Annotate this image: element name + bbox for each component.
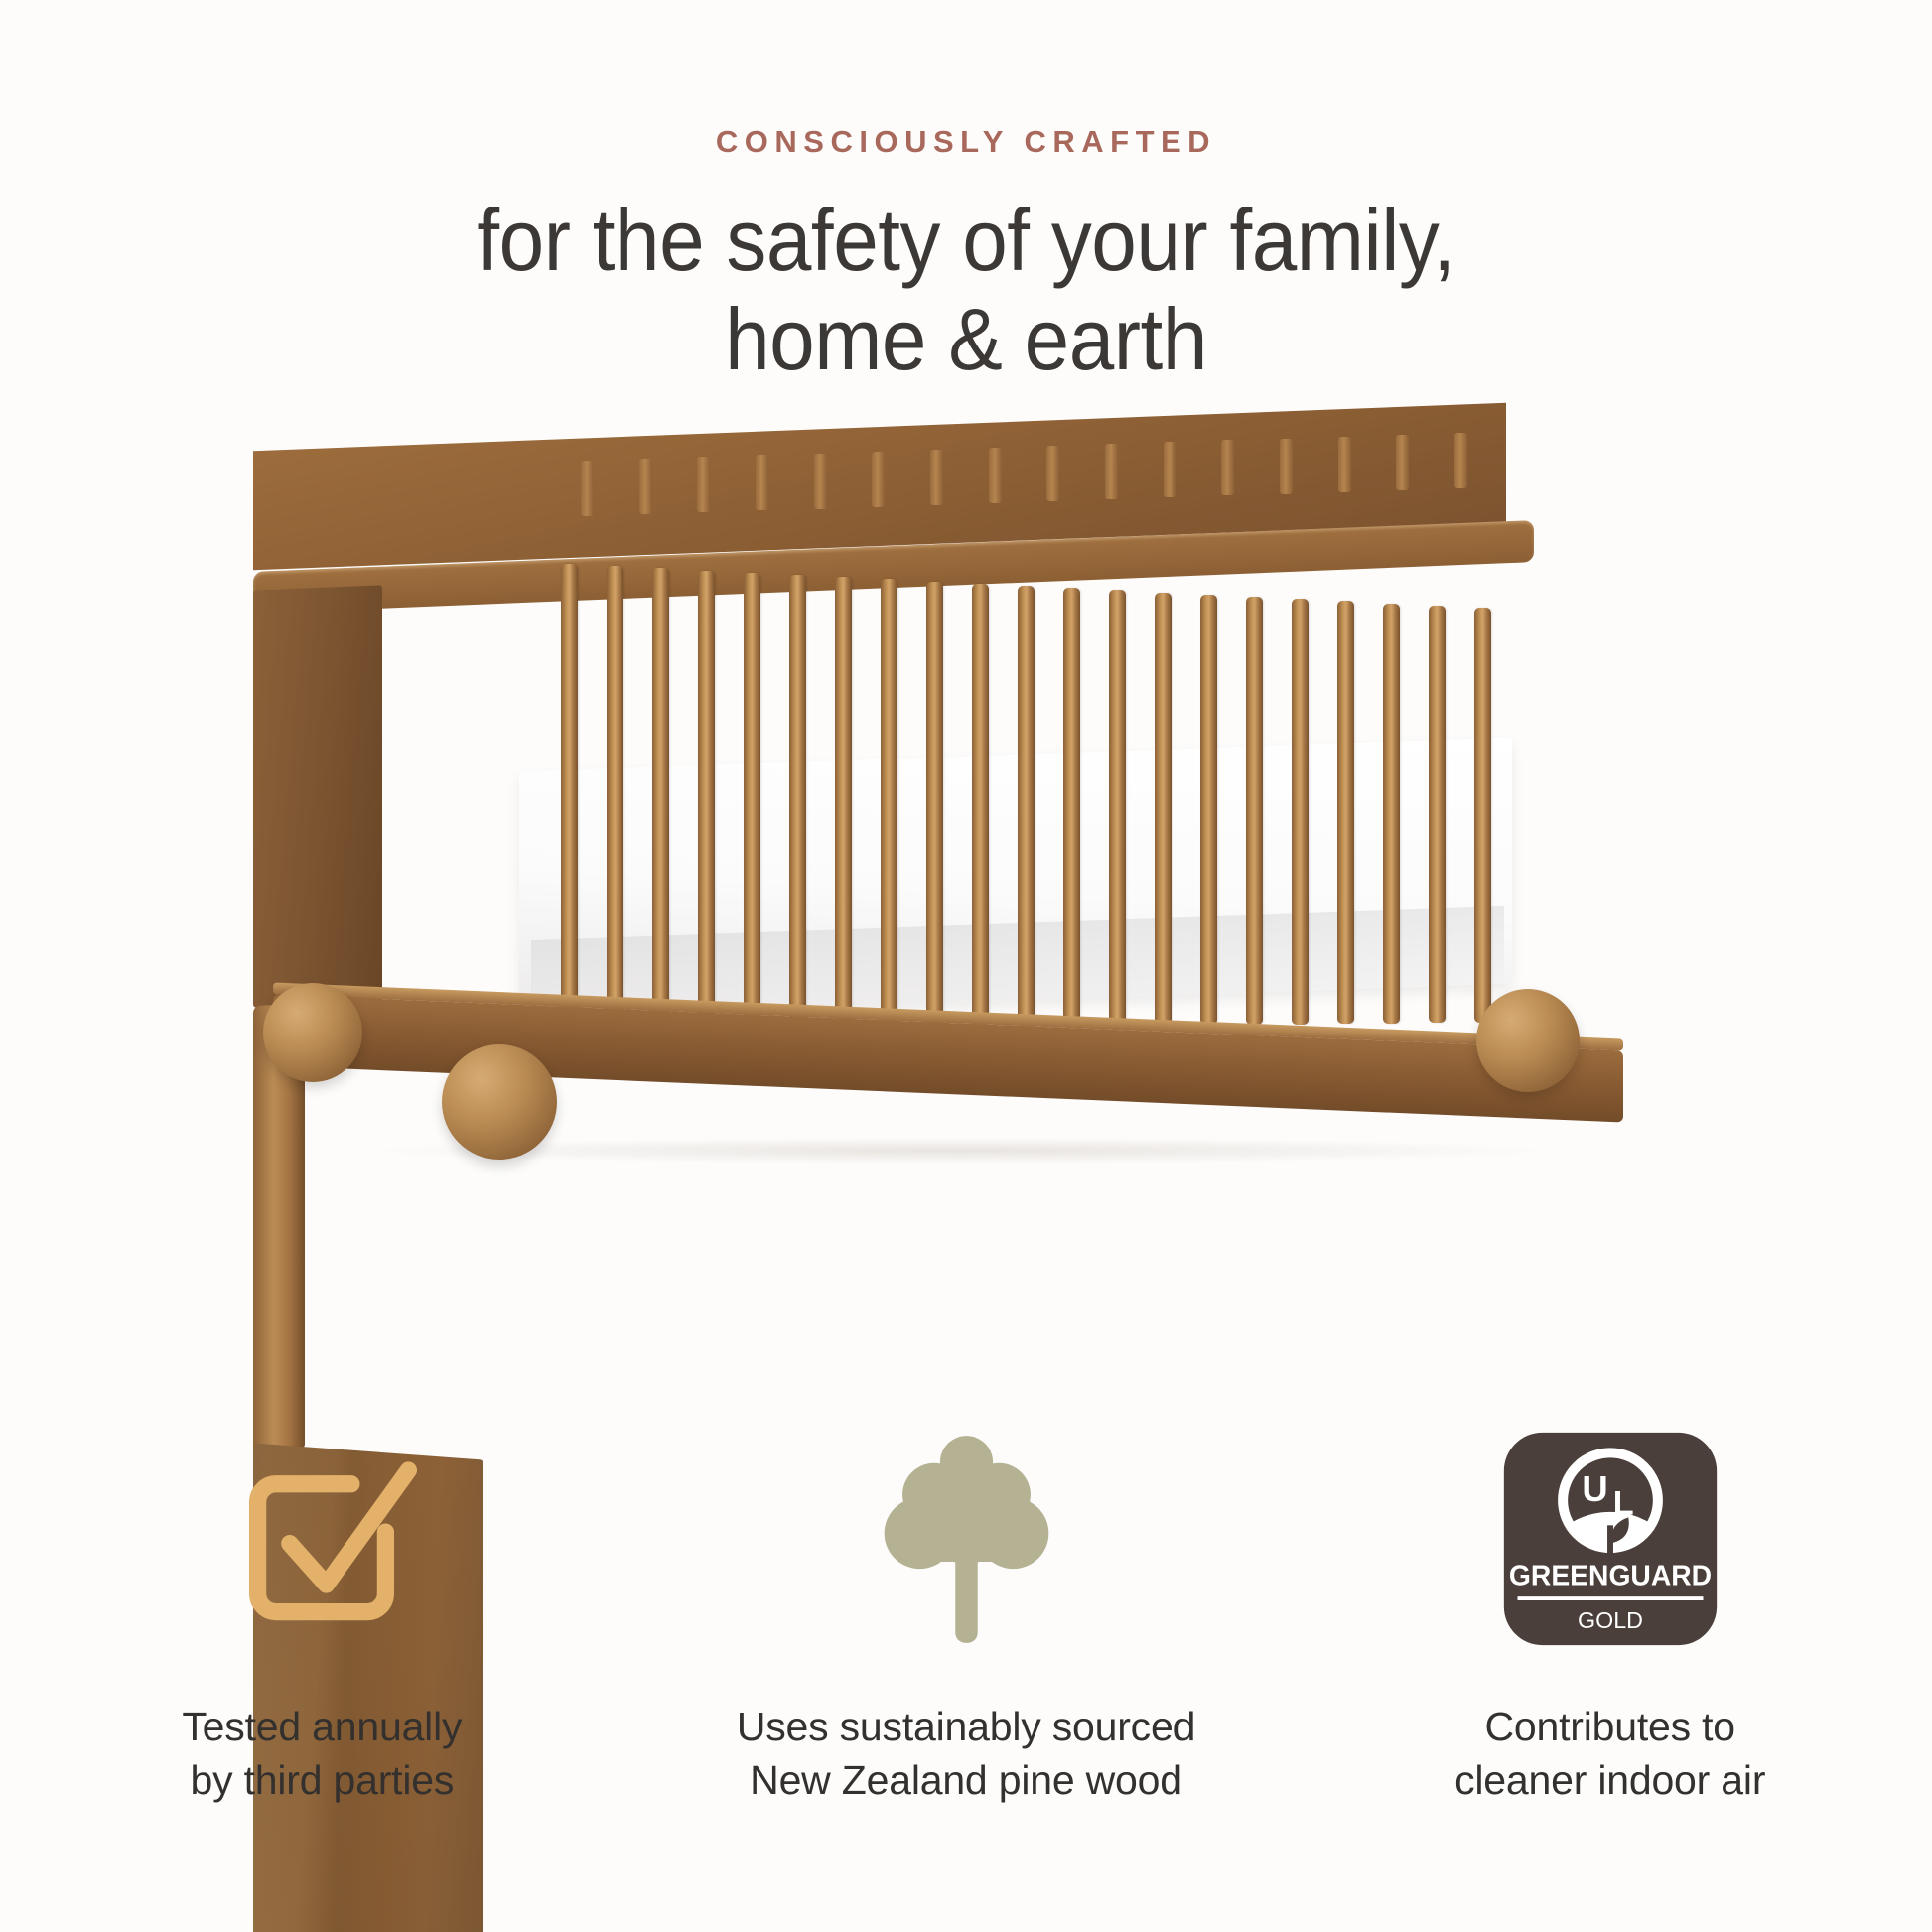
crib-slat bbox=[1063, 588, 1080, 1026]
crib-back-slat bbox=[1280, 439, 1293, 494]
crib-right-end-panel bbox=[253, 585, 382, 1007]
crib-slat bbox=[1474, 608, 1491, 1023]
crib-slat bbox=[744, 573, 760, 1030]
crib-foot-front-right bbox=[1476, 989, 1580, 1092]
crib-back-slat bbox=[639, 459, 652, 514]
caption-line-1: Uses sustainably sourced bbox=[737, 1704, 1195, 1749]
crib-back-slat bbox=[1046, 446, 1059, 501]
crib-slat bbox=[926, 582, 943, 1028]
page-title: for the safety of your family, home & ea… bbox=[68, 191, 1864, 390]
headline-line-2: home & earth bbox=[68, 290, 1864, 389]
badge-level: GOLD bbox=[1578, 1607, 1643, 1633]
crib-back-slat bbox=[1338, 437, 1351, 492]
crib-slat bbox=[1155, 593, 1172, 1026]
crib-ground-shadow bbox=[372, 1138, 1544, 1164]
crib-foot-front-left bbox=[442, 1044, 557, 1160]
crib-slat bbox=[1429, 606, 1446, 1024]
crib-back-slat bbox=[1164, 442, 1176, 497]
crib-slat bbox=[1200, 595, 1217, 1026]
crib-slat bbox=[1292, 599, 1309, 1024]
crib-slat bbox=[835, 577, 852, 1028]
crib-back-slat bbox=[697, 457, 710, 512]
crib-back-slat bbox=[872, 452, 885, 507]
crib-back-slat bbox=[1221, 440, 1234, 495]
tree-icon bbox=[865, 1420, 1068, 1658]
crib-back-slat bbox=[989, 448, 1002, 503]
crib-slat bbox=[561, 564, 578, 1031]
crib-back-slat bbox=[756, 455, 768, 510]
greenguard-gold-badge-icon: U L GREENGUARD GOLD bbox=[1497, 1420, 1724, 1658]
crib-slat bbox=[607, 566, 623, 1030]
feature-caption: Tested annually by third parties bbox=[182, 1700, 462, 1807]
feature-sustainable-wood: Uses sustainably sourced New Zealand pin… bbox=[644, 1420, 1289, 1807]
product-photo-crib bbox=[253, 427, 1683, 1152]
caption-line-1: Contributes to bbox=[1484, 1704, 1734, 1749]
feature-tested-annually: Tested annually by third parties bbox=[0, 1420, 644, 1807]
feature-clean-air: U L GREENGUARD GOLD Contributes to clean… bbox=[1288, 1420, 1932, 1807]
crib-slat bbox=[1018, 586, 1035, 1027]
feature-caption: Uses sustainably sourced New Zealand pin… bbox=[737, 1700, 1195, 1807]
crib-slat bbox=[1109, 590, 1126, 1026]
crib-back-slat bbox=[1396, 435, 1409, 490]
crib-foot-back-left bbox=[263, 983, 362, 1082]
marketing-image: CONSCIOUSLY CRAFTED for the safety of yo… bbox=[0, 0, 1932, 1932]
eyebrow-text: CONSCIOUSLY CRAFTED bbox=[0, 124, 1932, 160]
crib-back-slat bbox=[814, 454, 827, 509]
crib-slat bbox=[972, 584, 989, 1028]
crib-back-slat bbox=[930, 450, 943, 505]
crib-slat bbox=[698, 571, 715, 1030]
headline-line-1: for the safety of your family, bbox=[477, 191, 1454, 289]
caption-line-2: New Zealand pine wood bbox=[737, 1753, 1195, 1807]
crib-back-slat bbox=[1454, 433, 1467, 488]
caption-line-1: Tested annually bbox=[182, 1704, 462, 1749]
crib-slat bbox=[1246, 597, 1263, 1025]
crib-back-slat bbox=[581, 461, 594, 516]
checkbox-check-icon bbox=[207, 1420, 436, 1658]
feature-caption: Contributes to cleaner indoor air bbox=[1454, 1700, 1765, 1807]
crib-slat bbox=[1337, 601, 1354, 1024]
svg-text:U: U bbox=[1582, 1468, 1607, 1509]
badge-name: GREENGUARD bbox=[1509, 1560, 1712, 1591]
crib-slat bbox=[1383, 604, 1400, 1024]
crib-slat bbox=[652, 568, 669, 1030]
crib-slat bbox=[789, 575, 806, 1029]
feature-row: Tested annually by third parties bbox=[0, 1420, 1932, 1807]
caption-line-2: cleaner indoor air bbox=[1454, 1753, 1765, 1807]
crib-back-slat bbox=[1105, 444, 1118, 499]
caption-line-2: by third parties bbox=[182, 1753, 462, 1807]
crib-slat bbox=[881, 579, 897, 1028]
svg-text:L: L bbox=[1612, 1484, 1633, 1522]
